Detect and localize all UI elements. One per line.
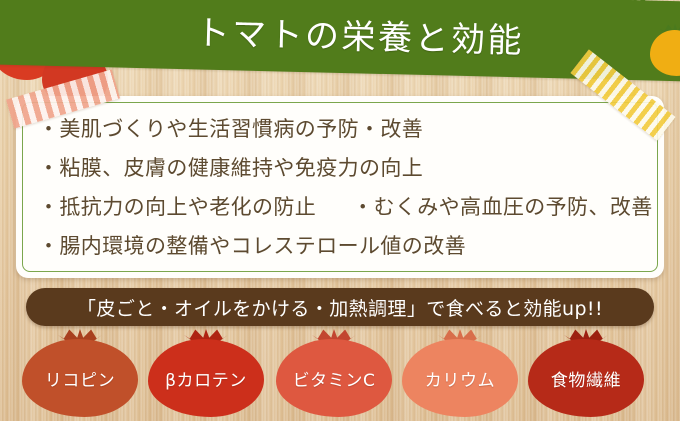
list-item-part: ・むくみや高血圧の予防、改善 xyxy=(352,189,652,226)
nutrient-badge-label: ビタミンC xyxy=(276,339,392,417)
cooking-tip-banner: 「皮ごと・オイルをかける・加熱調理」で食べると効能up!! xyxy=(26,288,654,326)
nutrient-badge-label: 食物繊維 xyxy=(528,339,644,417)
nutrient-badge-label: カリウム xyxy=(402,339,518,417)
nutrient-badge-row: リコピン βカロテン ビタミンC カリウム 食物繊維 xyxy=(0,331,680,421)
benefits-card: ・美肌づくりや生活習慣病の予防・改善 ・粘膜、皮膚の健康維持や免疫力の向上 ・抵… xyxy=(16,96,664,278)
nutrient-badge-potassium: カリウム xyxy=(402,331,518,417)
yellow-tomato-icon xyxy=(650,30,680,76)
benefits-list: ・美肌づくりや生活習慣病の予防・改善 ・粘膜、皮膚の健康維持や免疫力の向上 ・抵… xyxy=(38,106,648,270)
nutrient-badge-label: βカロテン xyxy=(148,339,264,417)
nutrient-badge-lycopene: リコピン xyxy=(22,331,138,417)
cooking-tip-text: 「皮ごと・オイルをかける・加熱調理」で食べると効能up!! xyxy=(77,294,603,321)
nutrient-badge-beta-carotene: βカロテン xyxy=(148,331,264,417)
list-item: ・抵抗力の向上や老化の防止 ・むくみや高血圧の予防、改善 xyxy=(38,189,648,226)
list-item: ・粘膜、皮膚の健康維持や免疫力の向上 xyxy=(38,150,648,187)
nutrient-badge-label: リコピン xyxy=(22,339,138,417)
nutrient-badge-dietary-fiber: 食物繊維 xyxy=(528,331,644,417)
infographic-canvas: トマトの栄養と効能 ・美肌づくりや生活習慣病の予防・改善 ・粘膜、皮膚の健康維持… xyxy=(0,0,680,421)
list-item: ・美肌づくりや生活習慣病の予防・改善 xyxy=(38,111,648,148)
list-item-part: ・抵抗力の向上や老化の防止 xyxy=(38,189,316,226)
nutrient-badge-vitamin-c: ビタミンC xyxy=(276,331,392,417)
list-item: ・腸内環境の整備やコレステロール値の改善 xyxy=(38,228,648,265)
